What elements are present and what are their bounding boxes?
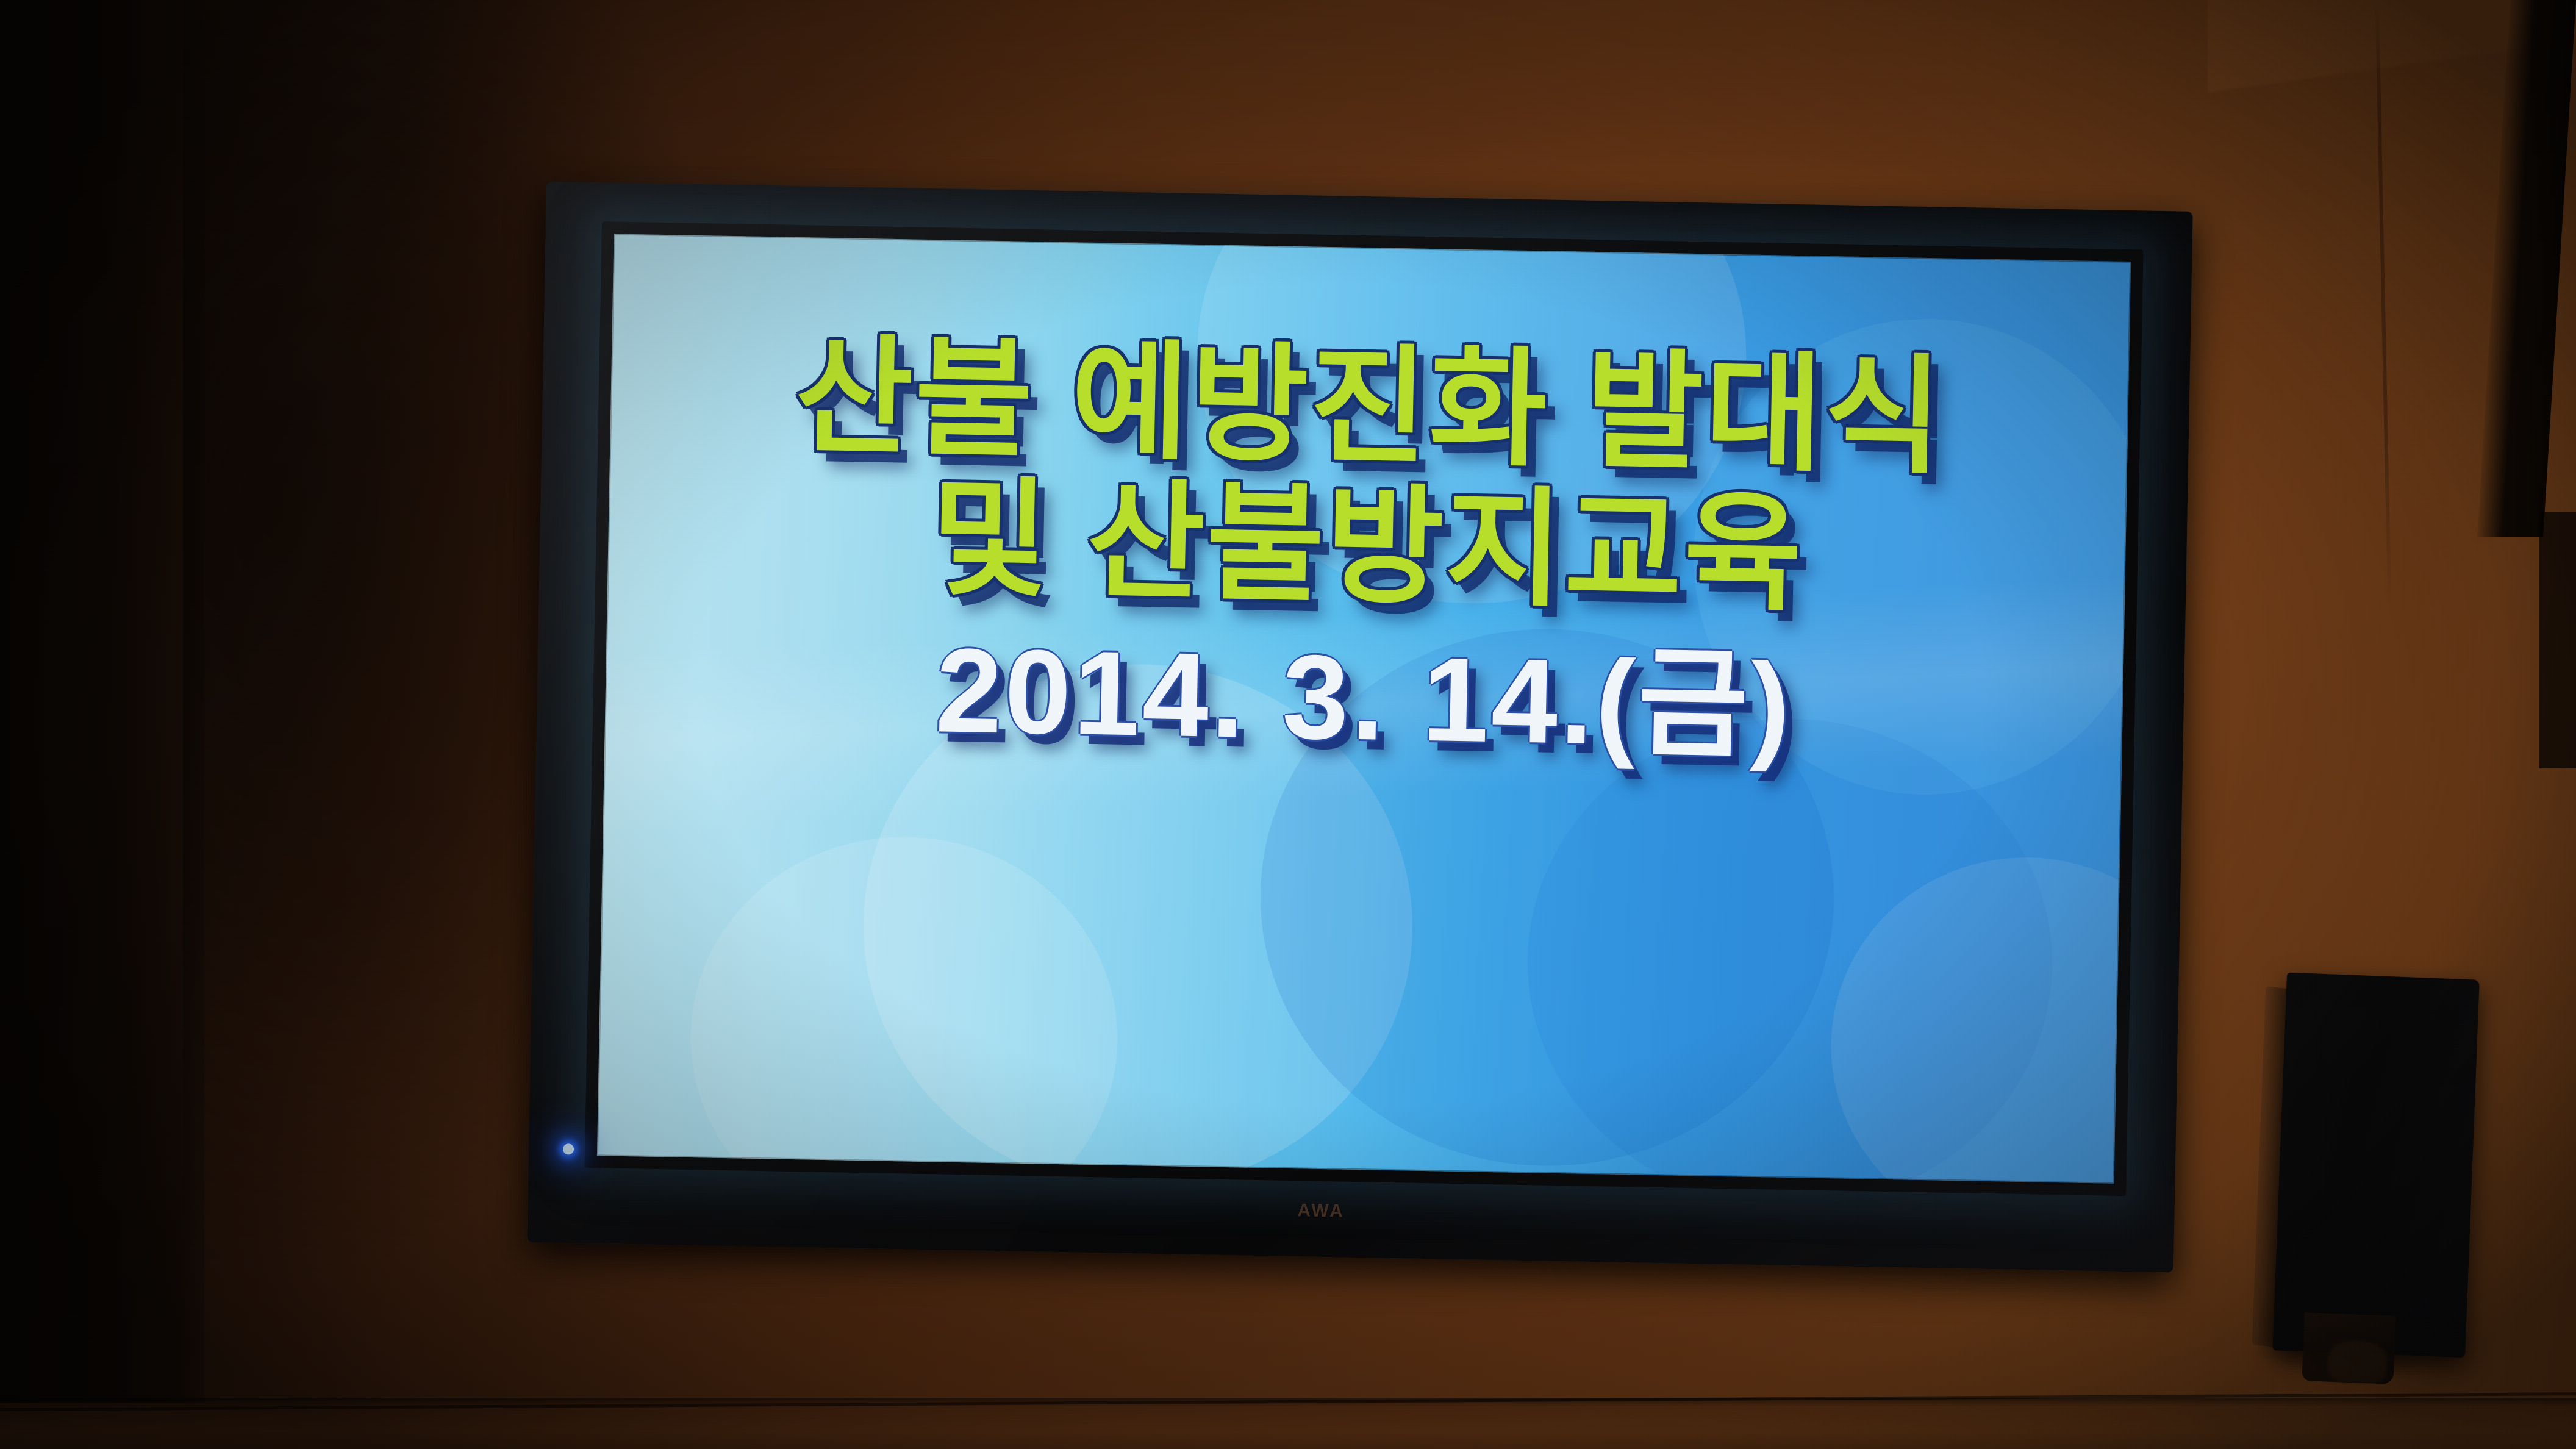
tv-brand-logo: AWA <box>1297 1200 1345 1222</box>
wall-mounted-speaker <box>2250 971 2479 1387</box>
slide-title-line-1: 산불 예방진화 발대식 <box>794 329 1945 485</box>
slide-text-block: 산불 예방진화 발대식 및 산불방지교육 2014. 3. 14.(금) <box>597 234 2131 1183</box>
wall-mounted-display[interactable]: 산불 예방진화 발대식 및 산불방지교육 2014. 3. 14.(금) AWA <box>527 181 2192 1272</box>
wall-left-dark-panel <box>0 0 204 1403</box>
slide-title-line-2: 및 산불방지교육 <box>929 471 1805 623</box>
speaker-front-grille <box>2272 973 2480 1358</box>
slide-date-line: 2014. 3. 14.(금) <box>935 627 1794 769</box>
photo-scene: 산불 예방진화 발대식 및 산불방지교육 2014. 3. 14.(금) AWA <box>0 0 2576 1449</box>
tv-screen[interactable]: 산불 예방진화 발대식 및 산불방지교육 2014. 3. 14.(금) <box>597 234 2131 1183</box>
wall-right-dark-edge-lower <box>2539 512 2576 768</box>
speaker-mount-arm <box>2327 1340 2388 1384</box>
